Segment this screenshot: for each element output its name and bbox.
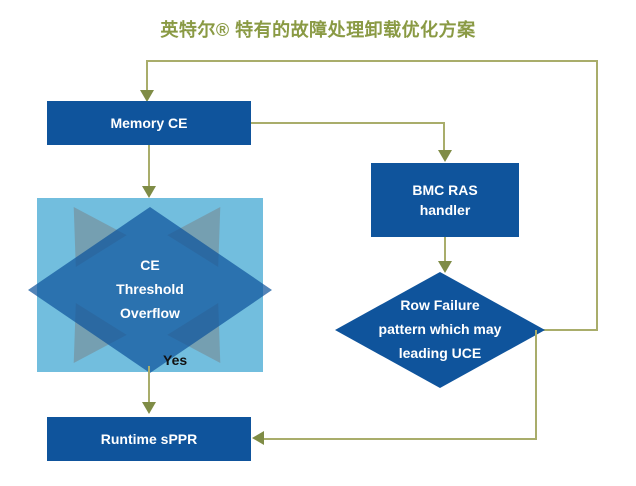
page-title: 英特尔® 特有的故障处理卸载优化方案 — [0, 16, 636, 42]
bmc-line-2: handler — [412, 200, 477, 220]
flowchart-canvas: 英特尔® 特有的故障处理卸载优化方案 CE Threshold Overflow… — [0, 0, 636, 486]
process-bmc-ras-handler[interactable]: BMC RAS handler — [371, 163, 519, 237]
process-bmc-ras-label: BMC RAS handler — [412, 180, 477, 221]
decision-ce-threshold-overflow[interactable]: CE Threshold Overflow — [28, 207, 272, 373]
row-line-1: Row Failure — [379, 294, 502, 318]
decision-row-failure-label: Row Failure pattern which may leading UC… — [379, 294, 502, 365]
bmc-line-1: BMC RAS — [412, 180, 477, 200]
row-line-3: leading UCE — [379, 342, 502, 366]
decision-ce-threshold-label: CE Threshold Overflow — [116, 254, 184, 325]
process-memory-ce[interactable]: Memory CE — [47, 101, 251, 145]
connector-memory-to-bmc-h — [251, 122, 445, 124]
arrow-down-icon-to-ce-threshold — [142, 186, 156, 198]
connector-row-failure-to-runtime — [264, 438, 536, 440]
arrow-down-icon-to-runtime-sppr — [142, 402, 156, 414]
decision-row-failure[interactable]: Row Failure pattern which may leading UC… — [335, 272, 545, 388]
edge-label-yes: Yes — [163, 352, 187, 368]
arrow-down-icon-to-bmc-ras — [438, 150, 452, 162]
ce-line-3: Overflow — [116, 302, 184, 326]
connector-ce-threshold-to-runtime — [148, 366, 150, 405]
ce-line-2: Threshold — [116, 278, 184, 302]
ce-line-1: CE — [116, 254, 184, 278]
connector-feedback-left — [146, 60, 148, 94]
connector-feedback-bottom — [543, 329, 598, 331]
connector-feedback-top — [146, 60, 598, 62]
connector-feedback-right — [596, 60, 598, 330]
connector-memory-to-ce-threshold — [148, 145, 150, 189]
process-runtime-sppr-label: Runtime sPPR — [101, 429, 197, 449]
row-line-2: pattern which may — [379, 318, 502, 342]
arrow-left-icon-to-runtime-sppr — [252, 431, 264, 445]
connector-row-failure-down — [535, 330, 537, 440]
process-runtime-sppr[interactable]: Runtime sPPR — [47, 417, 251, 461]
process-memory-ce-label: Memory CE — [110, 113, 187, 133]
